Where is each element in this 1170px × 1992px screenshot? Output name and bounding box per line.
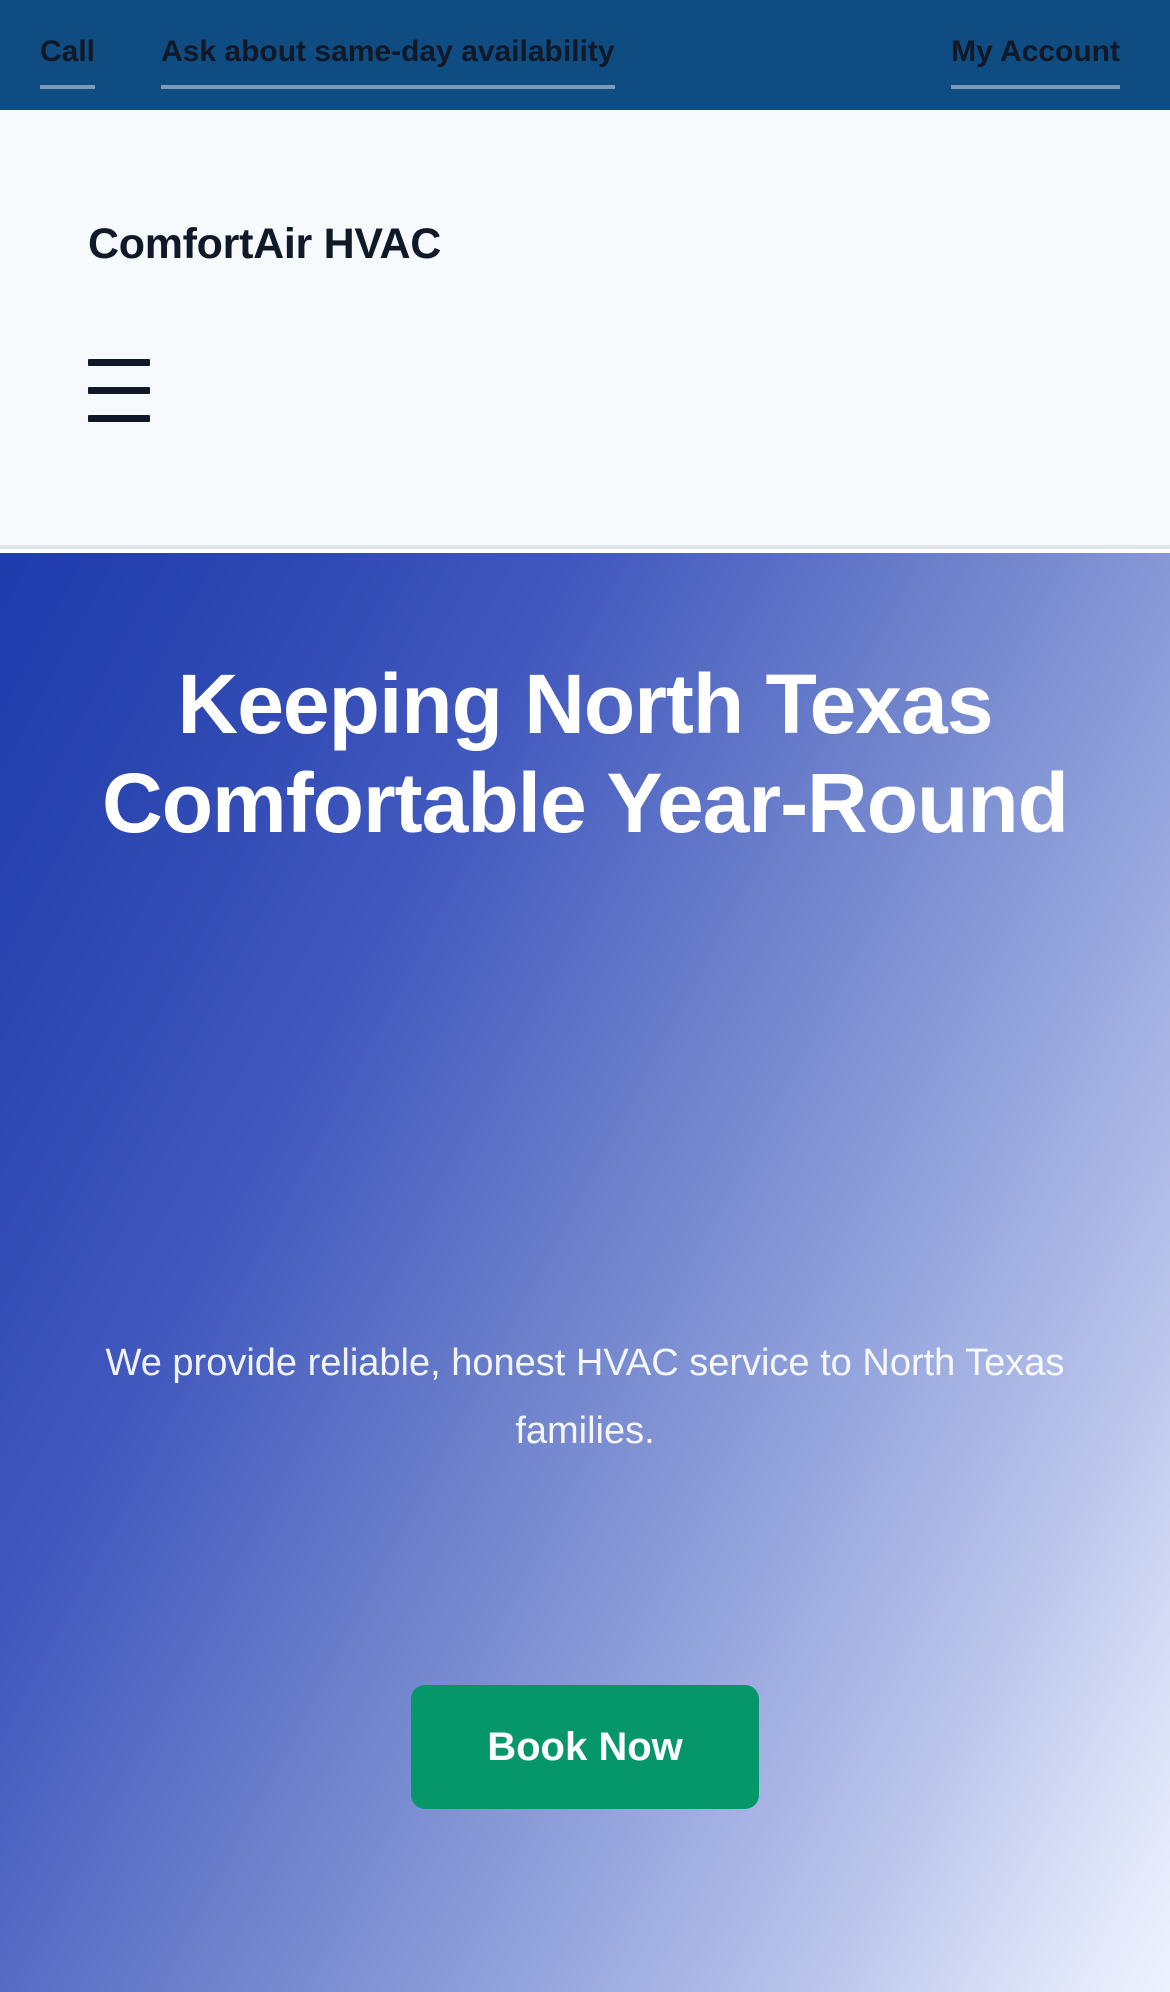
top-utility-bar: Call Ask about same-day availability My …: [0, 0, 1170, 110]
hamburger-bar-bottom: [88, 415, 150, 422]
hero-heading: Keeping North Texas Comfortable Year-Rou…: [40, 655, 1130, 853]
hero-cta-container: Book Now: [0, 1685, 1170, 1809]
hamburger-bar-middle: [88, 387, 150, 394]
site-header: ComfortAir HVAC: [0, 110, 1170, 549]
topbar-link-my-account[interactable]: My Account: [951, 37, 1120, 73]
brand-title[interactable]: ComfortAir HVAC: [88, 220, 441, 269]
page-root: Call Ask about same-day availability My …: [0, 0, 1170, 1992]
book-now-button[interactable]: Book Now: [411, 1685, 759, 1809]
topbar-link-call[interactable]: Call: [40, 37, 95, 73]
hero-subheading: We provide reliable, honest HVAC service…: [40, 1330, 1130, 1465]
topbar-link-same-day-availability[interactable]: Ask about same-day availability: [161, 37, 615, 73]
hamburger-bar-top: [88, 359, 150, 366]
hero-section: Keeping North Texas Comfortable Year-Rou…: [0, 553, 1170, 1992]
hamburger-menu-icon[interactable]: [88, 354, 150, 430]
